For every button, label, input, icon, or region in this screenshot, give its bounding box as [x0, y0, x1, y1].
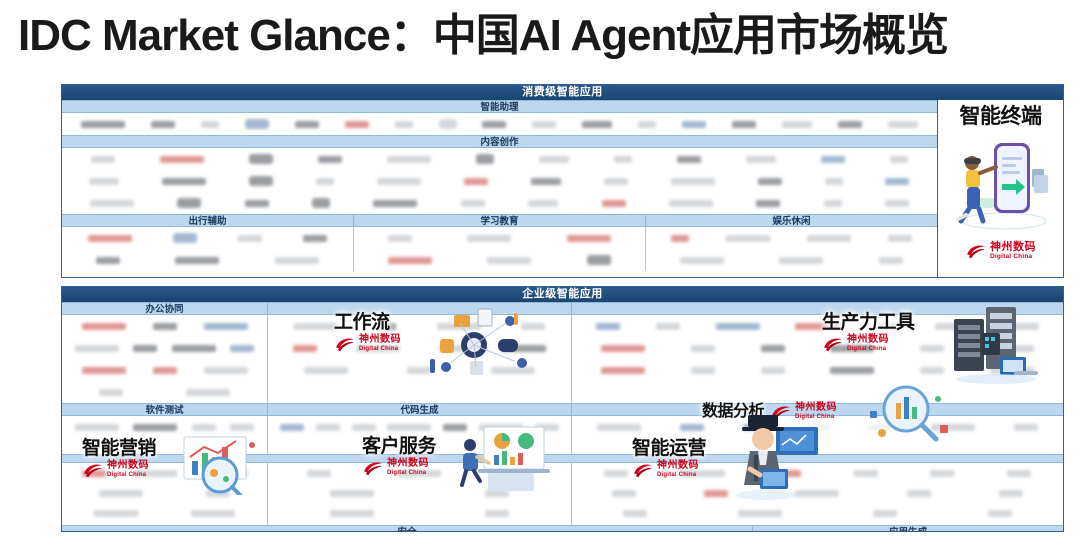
vendor-logo: [318, 156, 342, 163]
vendor-logo: [204, 367, 248, 374]
vendor-logo: [330, 510, 374, 517]
vendor-logo: [373, 200, 417, 207]
column-office-collaboration: [62, 315, 267, 403]
vendor-logo: [312, 198, 330, 208]
divider-band-enterprise: [62, 454, 1063, 463]
logo-row: [62, 483, 267, 503]
vendor-logo: [89, 178, 119, 185]
subband-entertainment-leisure: 娱乐休闲: [645, 214, 937, 227]
vendor-logo: [82, 323, 126, 330]
vendor-logo: [387, 424, 431, 431]
logo-row: [62, 416, 267, 438]
vendor-logo: [356, 345, 400, 352]
vendor-logo: [508, 470, 532, 477]
brand-name-en: Digital China: [990, 254, 1036, 261]
vendor-logo: [587, 255, 611, 265]
vendor-logo: [491, 367, 535, 374]
vendor-logo: [249, 154, 273, 164]
vendor-logo: [96, 257, 120, 264]
vendor-logo: [638, 121, 656, 128]
logo-row: [268, 315, 571, 337]
vendor-logo: [825, 178, 843, 185]
vendor-logo: [307, 470, 331, 477]
vendor-logo: [90, 200, 134, 207]
vendor-logo: [304, 367, 348, 374]
logo-row: [268, 337, 571, 359]
vendor-logo: [345, 121, 369, 128]
subband-app-generation: 应用生成: [752, 525, 1063, 532]
vendor-logo: [795, 490, 839, 497]
vendor-logo: [535, 424, 559, 431]
subband-enterprise-row1-mid: [267, 302, 571, 315]
section-consumer: 消费级智能应用 智能助理: [61, 84, 1064, 278]
vendor-logo: [677, 156, 701, 163]
vendor-logo: [623, 510, 647, 517]
vendor-logo: [890, 156, 908, 163]
vendor-logo: [388, 235, 412, 242]
digital-china-swoosh-icon: [965, 243, 987, 259]
vendor-logo: [204, 470, 248, 477]
logo-row: [646, 249, 937, 271]
section-enterprise: 企业级智能应用 办公协同: [61, 286, 1064, 532]
panel-smart-terminal: 智能终端: [937, 100, 1063, 277]
vendor-logo: [726, 235, 770, 242]
market-glance-board: 消费级智能应用 智能助理: [61, 84, 1064, 532]
vendor-logo: [437, 323, 481, 330]
enterprise-row2-columns: [62, 416, 1063, 454]
vendor-logo: [888, 235, 912, 242]
vendor-logo: [999, 490, 1023, 497]
vendor-logo: [461, 200, 485, 207]
consumer-category-columns: [62, 227, 937, 271]
subband-office-collaboration: 办公协同: [62, 302, 267, 315]
logo-row: [646, 227, 937, 249]
logo-row: [62, 249, 353, 271]
vendor-logo: [230, 345, 254, 352]
logo-row: [572, 359, 1063, 381]
vendor-logo: [601, 345, 645, 352]
vendor-logo: [704, 490, 728, 497]
vendor-logo: [604, 178, 628, 185]
logo-row: [268, 359, 571, 381]
vendor-logo: [192, 424, 216, 431]
vendor-logo: [875, 323, 899, 330]
logo-row: [62, 463, 267, 483]
vendor-logo: [249, 176, 273, 186]
vendor-logo: [758, 178, 782, 185]
vendor-logo: [854, 470, 878, 477]
vendor-logo: [476, 154, 494, 164]
vendor-logo: [838, 121, 862, 128]
vendor-logo: [443, 424, 467, 431]
logo-row: [62, 503, 267, 523]
vendor-logo: [935, 323, 959, 330]
vendor-logo: [99, 490, 143, 497]
vendor-logo: [467, 235, 511, 242]
vendor-logo: [1007, 470, 1031, 477]
vendor-logo: [995, 323, 1039, 330]
vendor-logo: [597, 424, 641, 431]
vendor-logo: [521, 323, 545, 330]
subband-learning-education: 学习教育: [353, 214, 645, 227]
vendor-logo: [746, 156, 776, 163]
vendor-logo: [186, 389, 230, 396]
vendor-logo: [604, 470, 628, 477]
logo-row: [268, 503, 571, 523]
logo-row: [62, 315, 267, 337]
vendor-logo: [275, 257, 319, 264]
vendor-logo: [567, 235, 611, 242]
vendor-logo: [91, 156, 115, 163]
vendor-logo: [671, 178, 715, 185]
vendor-logo: [75, 345, 119, 352]
section-band-enterprise: 企业级智能应用: [62, 287, 1063, 302]
vendor-logo: [303, 235, 327, 242]
subband-enterprise-row1-right: [571, 302, 1063, 315]
logo-row: [62, 227, 353, 249]
vendor-logo: [601, 367, 645, 374]
vendor-logo: [464, 178, 488, 185]
vendor-logo: [795, 323, 839, 330]
vendor-logo: [885, 200, 909, 207]
vendor-logo: [1014, 424, 1038, 431]
vendor-logo: [173, 233, 197, 243]
vendor-logo: [204, 323, 248, 330]
brand-lockup-smart-terminal: 神州数码 Digital China: [938, 242, 1063, 261]
vendor-logo: [316, 178, 334, 185]
vendor-logo: [990, 345, 1034, 352]
section-band-consumer: 消费级智能应用: [62, 85, 1063, 100]
vendor-logo: [531, 178, 561, 185]
vendor-logo: [868, 424, 892, 431]
vendor-logo: [821, 156, 845, 163]
subband-travel-assist: 出行辅助: [62, 214, 353, 227]
vendor-logo: [807, 235, 851, 242]
logo-row: [62, 381, 267, 403]
vendor-logo: [153, 323, 177, 330]
vendor-logo: [614, 156, 632, 163]
page-title: IDC Market Glance：中国AI Agent应用市场概览: [18, 8, 1068, 63]
logo-row: [354, 249, 645, 271]
vendor-logo: [295, 121, 319, 128]
logo-row: [62, 359, 267, 381]
vendor-logo: [94, 510, 138, 517]
subband-enterprise-row4: 安全 应用生成: [62, 525, 1063, 532]
logo-row: [572, 483, 1063, 503]
subband-smart-assistant: 智能助理: [62, 100, 937, 113]
vendor-logo: [671, 235, 689, 242]
vendor-logo: [238, 235, 262, 242]
vendor-logo: [681, 470, 725, 477]
vendor-logo: [133, 424, 177, 431]
vendor-logo: [160, 156, 204, 163]
vendor-logo: [931, 424, 975, 431]
vendor-logo: [482, 121, 506, 128]
logo-row: [572, 337, 1063, 359]
vendor-logo: [691, 367, 715, 374]
column-learning-education: [353, 227, 645, 271]
vendor-logo: [245, 200, 269, 207]
vendor-logo: [280, 424, 304, 431]
vendor-logo: [830, 367, 874, 374]
vendor-logo: [539, 156, 569, 163]
vendor-logo: [732, 121, 756, 128]
vendor-logo: [528, 200, 558, 207]
vendor-logo: [691, 345, 715, 352]
vendor-logo: [930, 470, 954, 477]
vendor-logo: [885, 178, 909, 185]
vendor-logo: [879, 257, 903, 264]
vendor-logo: [779, 257, 823, 264]
vendor-logo: [582, 121, 612, 128]
vendor-logo: [75, 424, 119, 431]
vendor-logo: [387, 156, 431, 163]
panel-smart-terminal-title: 智能终端: [938, 106, 1063, 127]
vendor-logo: [153, 367, 177, 374]
vendor-logo: [738, 510, 782, 517]
logo-row: [572, 315, 1063, 337]
vendor-logo: [761, 367, 785, 374]
column-productivity-tools: [571, 315, 1063, 403]
vendor-logo: [99, 389, 123, 396]
vendor-logo: [805, 424, 829, 431]
column-smart-marketing: [62, 463, 267, 525]
logo-row-content-creation-2: [62, 170, 937, 192]
subband-enterprise-row1: 办公协同: [62, 302, 1063, 315]
vendor-logo: [502, 345, 546, 352]
vendor-logo: [377, 178, 421, 185]
vendor-logo: [485, 510, 509, 517]
logo-row: [62, 337, 267, 359]
vendor-logo: [88, 235, 132, 242]
vendor-logo: [201, 121, 219, 128]
vendor-logo: [680, 424, 704, 431]
column-workflow: [267, 315, 571, 403]
vendor-logo: [293, 345, 317, 352]
vendor-logo: [177, 198, 201, 208]
vendor-logo: [920, 367, 944, 374]
column-code-generation: [267, 416, 571, 454]
vendor-logo: [395, 121, 413, 128]
vendor-logo: [378, 323, 396, 330]
vendor-logo: [439, 345, 463, 352]
enterprise-row1-columns: [62, 315, 1063, 403]
vendor-logo: [352, 424, 376, 431]
logo-row-content-creation-3: [62, 192, 937, 214]
vendor-logo: [206, 490, 230, 497]
vendor-logo: [191, 510, 235, 517]
subband-enterprise-row2-right: [571, 403, 1063, 416]
subband-code-generation: 代码生成: [267, 403, 571, 416]
vendor-logo: [330, 490, 374, 497]
logo-row: [268, 416, 571, 438]
vendor-logo: [782, 121, 812, 128]
vendor-logo: [756, 200, 780, 207]
vendor-logo: [439, 119, 457, 129]
vendor-logo: [316, 424, 340, 431]
vendor-logo: [485, 490, 509, 497]
vendor-logo: [990, 367, 1034, 374]
vendor-logo: [151, 121, 175, 128]
column-software-testing: [62, 416, 267, 454]
subband-content-creation: 内容创作: [62, 135, 937, 148]
vendor-logo: [716, 323, 760, 330]
logo-row-smart-assistant: [62, 113, 937, 135]
vendor-logo: [397, 470, 441, 477]
subband-software-testing: 软件测试: [62, 403, 267, 416]
vendor-logo: [669, 200, 713, 207]
vendor-logo: [532, 121, 556, 128]
logo-row: [268, 483, 571, 503]
column-travel-assist: [62, 227, 353, 271]
logo-row-content-creation-1: [62, 148, 937, 170]
vendor-logo: [873, 510, 897, 517]
logo-row: [354, 227, 645, 249]
vendor-logo: [596, 323, 620, 330]
vendor-logo: [245, 119, 269, 129]
vendor-logo: [602, 200, 626, 207]
column-data-analysis: [571, 416, 1063, 454]
vendor-logo: [612, 490, 636, 497]
vendor-logo: [81, 121, 125, 128]
vendor-logo: [487, 257, 531, 264]
smart-terminal-illustration: [942, 129, 1060, 237]
vendor-logo: [162, 178, 206, 185]
brand-name-cn: 神州数码: [990, 242, 1036, 253]
vendor-logo: [988, 510, 1012, 517]
vendor-logo: [175, 257, 219, 264]
vendor-logo: [656, 323, 680, 330]
vendor-logo: [743, 424, 767, 431]
vendor-logo: [761, 345, 785, 352]
vendor-logo: [407, 367, 431, 374]
vendor-logo: [682, 121, 706, 128]
enterprise-row3-columns: [62, 463, 1063, 525]
logo-row: [572, 416, 1063, 438]
consumer-grid: 智能助理 内容创作: [62, 100, 937, 277]
vendor-logo: [830, 345, 874, 352]
subband-enterprise-row2: 软件测试 代码生成: [62, 403, 1063, 416]
logo-row: [572, 503, 1063, 523]
vendor-logo: [777, 470, 801, 477]
logo-row: [268, 463, 571, 483]
vendor-logo: [920, 345, 944, 352]
vendor-logo: [172, 345, 216, 352]
vendor-logo: [907, 490, 931, 497]
column-smart-operations: [571, 463, 1063, 525]
vendor-logo: [82, 470, 106, 477]
vendor-logo: [230, 424, 254, 431]
vendor-logo: [133, 345, 157, 352]
vendor-logo: [82, 367, 126, 374]
subband-consumer-categories: 出行辅助 学习教育 娱乐休闲: [62, 214, 937, 227]
vendor-logo: [294, 323, 338, 330]
vendor-logo: [824, 200, 842, 207]
vendor-logo: [888, 121, 918, 128]
vendor-logo: [479, 424, 523, 431]
column-entertainment-leisure: [645, 227, 937, 271]
logo-row: [572, 463, 1063, 483]
vendor-logo: [388, 257, 432, 264]
vendor-logo: [680, 257, 724, 264]
column-customer-service: [267, 463, 571, 525]
subband-security: 安全: [62, 525, 752, 532]
vendor-logo: [133, 470, 177, 477]
